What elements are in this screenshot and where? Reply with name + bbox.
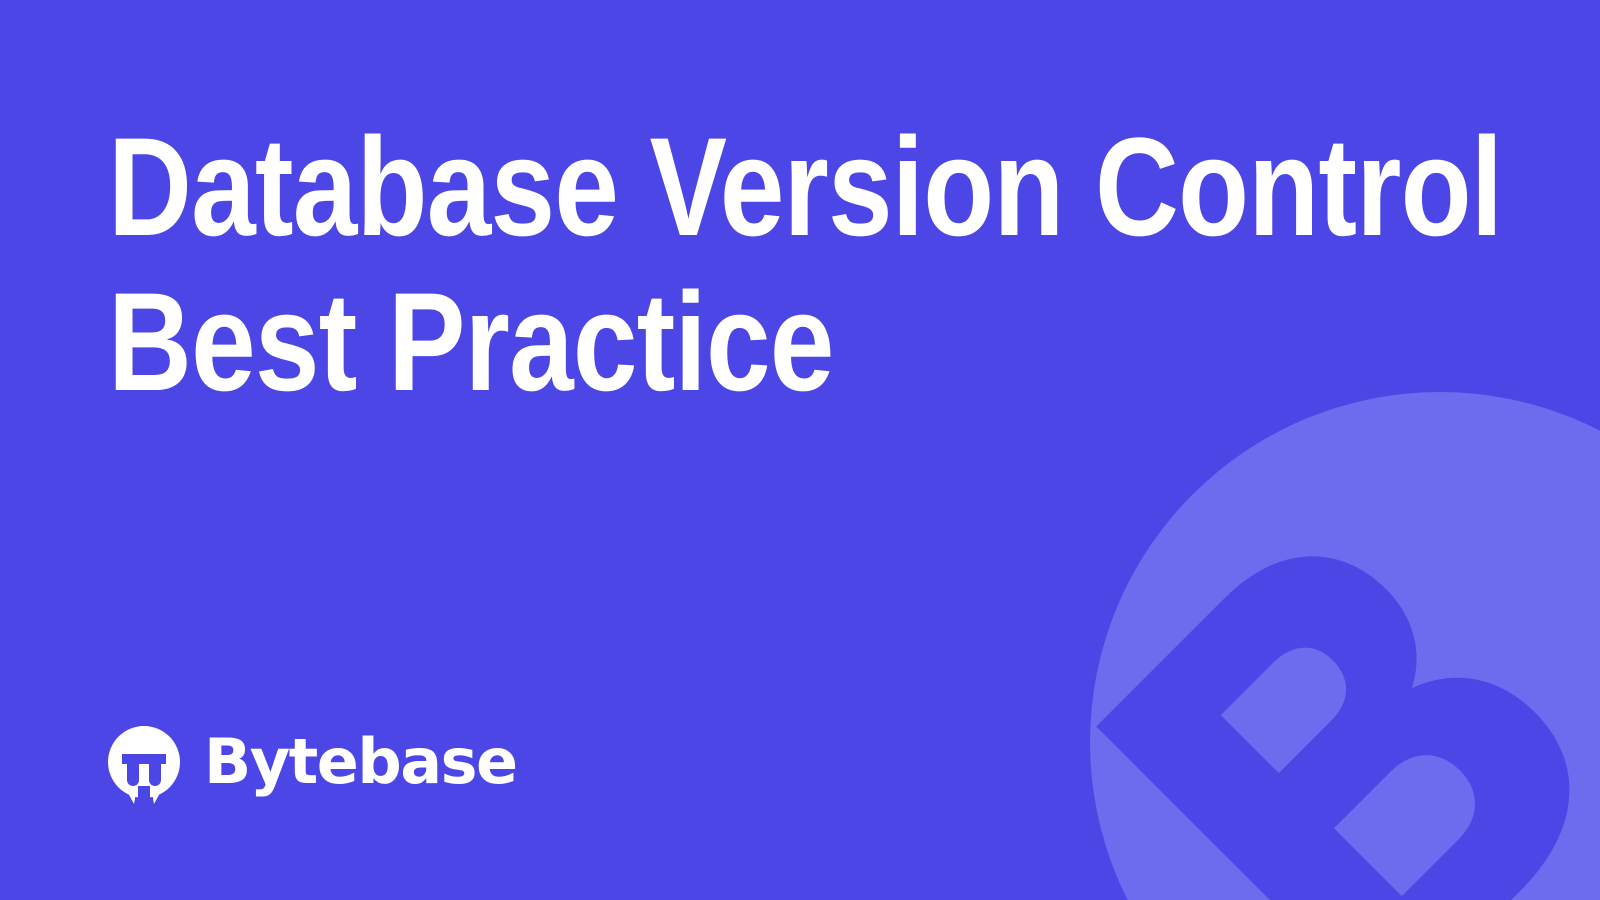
title-line-2: Best Practice xyxy=(108,264,1253,419)
title-line-1: Database Version Control xyxy=(108,109,1253,264)
background-watermark xyxy=(1090,392,1600,900)
bytebase-logo-icon xyxy=(104,724,184,804)
page-title: Database Version Control Best Practice xyxy=(108,109,1488,419)
brand-logo-lockup[interactable]: Bytebase xyxy=(104,724,517,804)
watermark-letter-b-icon xyxy=(1096,500,1600,900)
watermark-circle-icon xyxy=(1090,392,1600,900)
social-card: Database Version Control Best Practice xyxy=(0,0,1600,900)
bytebase-wordmark: Bytebase xyxy=(204,731,517,793)
